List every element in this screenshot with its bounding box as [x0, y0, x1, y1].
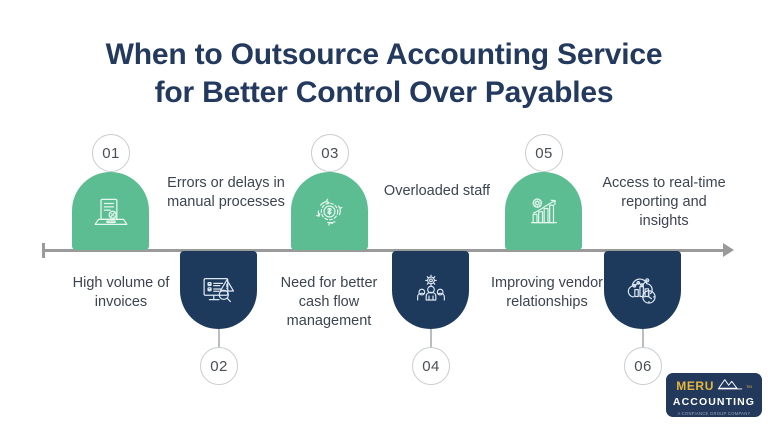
step-label-06: Access to real-time reporting and insigh…: [600, 174, 728, 231]
step-badge-03[interactable]: 03: [311, 134, 349, 172]
logo-tagline: A CONFIANCE GROUP COMPANY: [666, 411, 762, 416]
step-badge-01[interactable]: 01: [92, 134, 130, 172]
logo-primary-name: MERU: [676, 379, 714, 393]
brand-logo[interactable]: MERU TM ACCOUNTING A CONFIANCE GROUP COM…: [666, 373, 762, 417]
step-shape-06[interactable]: [604, 251, 681, 329]
step-label-05: Improving vendor relationships: [483, 274, 611, 312]
timeline-arrow-icon: [723, 243, 734, 257]
cash-flow-cycle-gear-dollar-icon: [309, 191, 350, 232]
logo-trademark: TM: [746, 384, 752, 389]
step-label-04: Overloaded staff: [373, 182, 501, 201]
cloud-analytics-clock-icon: [622, 270, 663, 311]
step-shape-05[interactable]: [505, 172, 582, 250]
step-number-04: 04: [422, 358, 440, 375]
laptop-invoice-percent-icon: [91, 191, 131, 231]
mountain-peaks-icon: [717, 377, 743, 395]
step-number-05: 05: [535, 145, 553, 162]
team-people-gear-icon: [411, 270, 451, 310]
step-shape-04[interactable]: [392, 251, 469, 329]
step-badge-05[interactable]: 05: [525, 134, 563, 172]
step-number-02: 02: [210, 358, 228, 375]
page-title: When to Outsource Accounting Service for…: [0, 36, 768, 113]
step-label-02: Errors or delays in manual processes: [162, 174, 290, 212]
step-badge-06[interactable]: 06: [624, 347, 662, 385]
title-line-1: When to Outsource Accounting Service: [0, 36, 768, 74]
step-badge-02[interactable]: 02: [200, 347, 238, 385]
step-number-01: 01: [102, 145, 120, 162]
growth-bar-chart-arrow-icon: [524, 191, 564, 231]
step-badge-04[interactable]: 04: [412, 347, 450, 385]
monitor-checklist-warning-search-icon: [198, 269, 240, 311]
step-number-03: 03: [321, 145, 339, 162]
logo-secondary-name: ACCOUNTING: [666, 396, 762, 408]
step-shape-01[interactable]: [72, 172, 149, 250]
title-line-2: for Better Control Over Payables: [0, 74, 768, 112]
step-shape-03[interactable]: [291, 172, 368, 250]
step-label-01: High volume of invoices: [57, 274, 185, 312]
step-shape-02[interactable]: [180, 251, 257, 329]
step-label-03: Need for better cash flow management: [265, 274, 393, 331]
step-number-06: 06: [634, 358, 652, 375]
infographic-canvas: When to Outsource Accounting Service for…: [0, 0, 768, 432]
